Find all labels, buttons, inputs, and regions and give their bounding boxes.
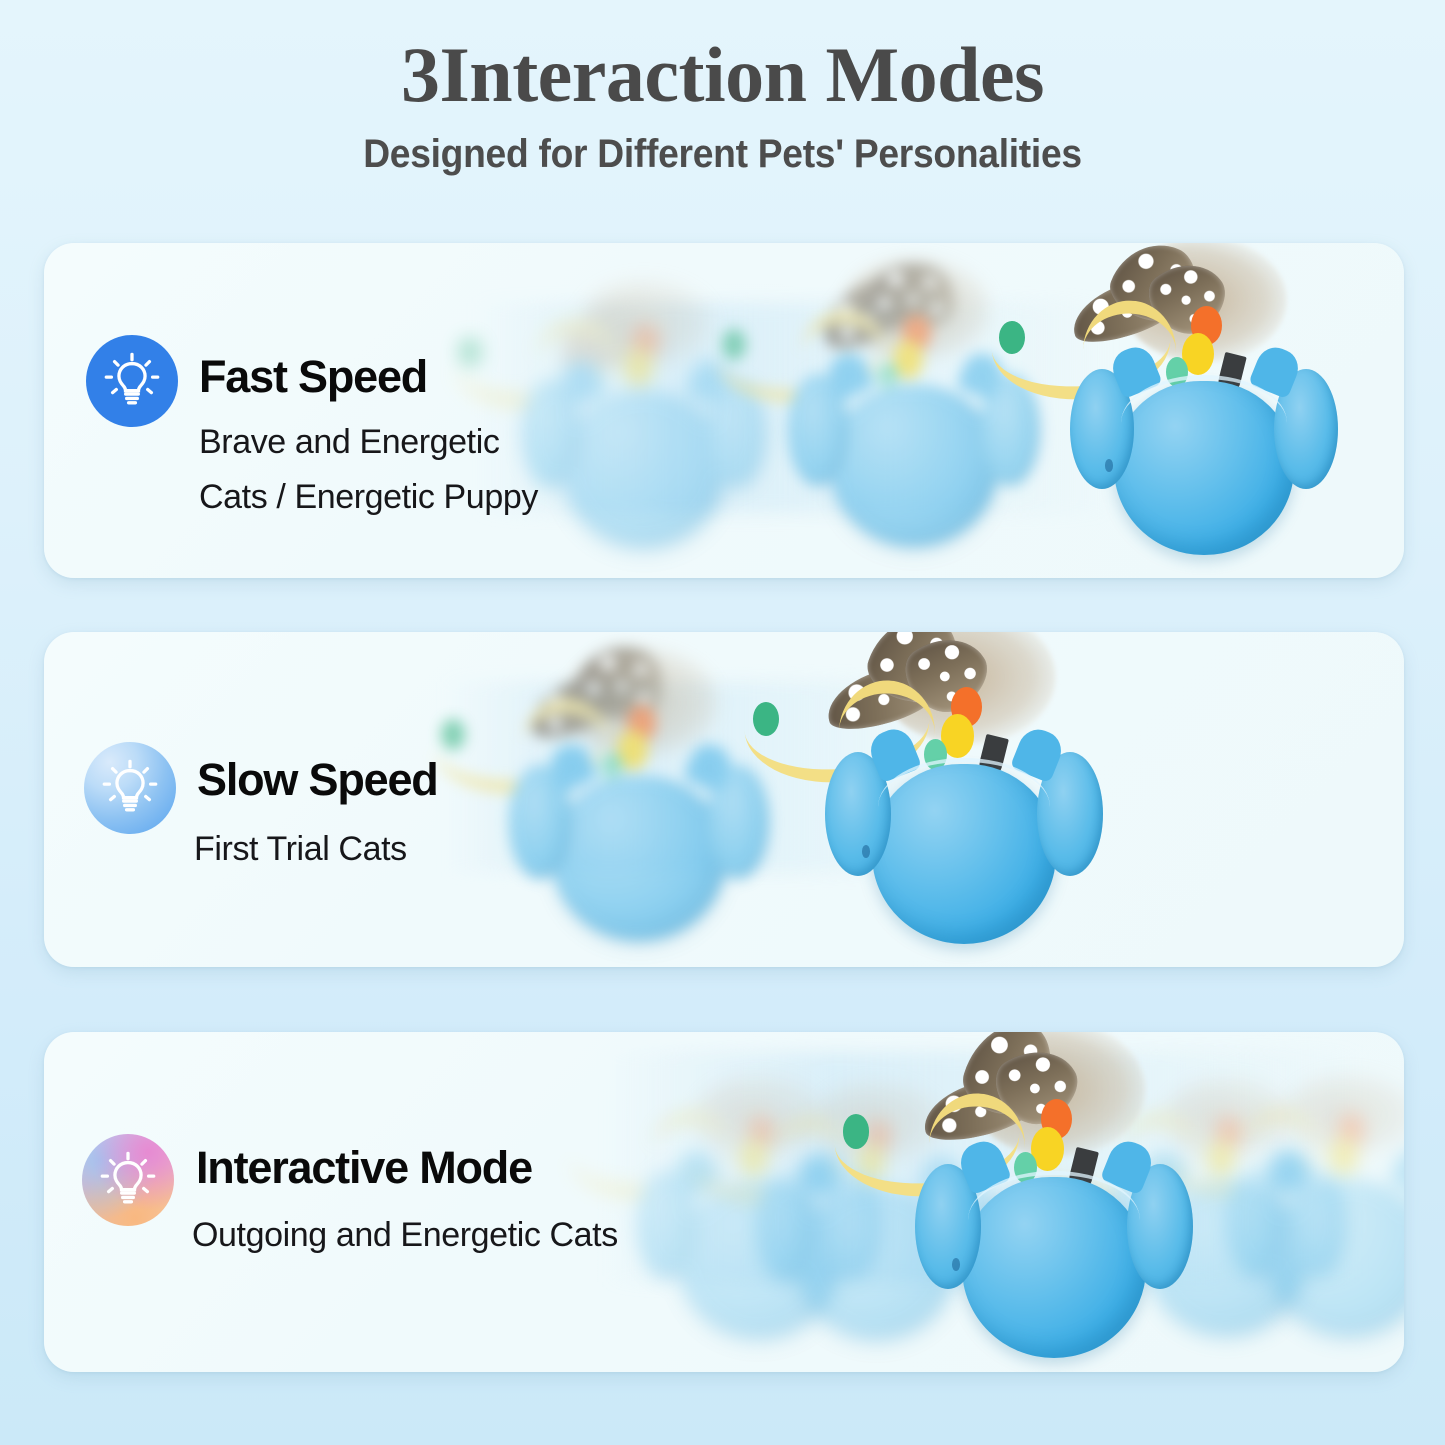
- pompom-green: [843, 1114, 869, 1148]
- pompom-green: [999, 321, 1025, 354]
- lightbulb-icon-interactive-mode: [82, 1134, 174, 1226]
- page-subtitle: Designed for Different Pets' Personaliti…: [51, 132, 1395, 177]
- mode-card-list: Fast Speed Brave and Energetic Cats / En…: [0, 0, 1445, 1445]
- toy-ghost-mid: [484, 662, 794, 947]
- card-title-fast-speed: Fast Speed: [199, 351, 427, 403]
- toy-eye: [862, 845, 871, 858]
- card-title-interactive-mode: Interactive Mode: [196, 1142, 532, 1194]
- lightbulb-icon-fast-speed: [86, 335, 178, 427]
- pompom-green: [753, 702, 779, 736]
- mode-card-fast-speed[interactable]: Fast Speed Brave and Energetic Cats / En…: [44, 243, 1404, 578]
- card-title-slow-speed: Slow Speed: [197, 754, 438, 806]
- page-header: 3Interaction Modes Designed for Differen…: [0, 0, 1445, 177]
- lightbulb-icon: [101, 350, 163, 412]
- lightbulb-icon-slow-speed: [84, 742, 176, 834]
- card-description-interactive-mode: Outgoing and Energetic Cats: [192, 1208, 618, 1263]
- mode-card-slow-speed[interactable]: Slow Speed First Trial Cats: [44, 632, 1404, 967]
- toy-eye: [1105, 459, 1113, 472]
- pompom-yellow: [1329, 1137, 1358, 1175]
- lightbulb-icon: [99, 757, 161, 819]
- toy-ghost-mid: [764, 273, 1064, 553]
- pompom-green: [722, 329, 746, 360]
- toy-primary: [889, 1052, 1219, 1364]
- card-description-slow-speed: First Trial Cats: [194, 822, 407, 877]
- mode-card-interactive-mode[interactable]: Interactive Mode Outgoing and Energetic …: [44, 1032, 1404, 1372]
- lightbulb-icon: [97, 1149, 159, 1211]
- toy-primary: [799, 640, 1129, 950]
- toy-primary: [1044, 261, 1364, 561]
- toy-ghost-far: [1204, 1072, 1404, 1342]
- pompom-yellow: [624, 348, 653, 386]
- page-title: 3Interaction Modes: [0, 34, 1445, 116]
- toy-ghost-far: [499, 283, 789, 553]
- pompom-green: [458, 337, 481, 367]
- card-description-fast-speed: Brave and Energetic Cats / Energetic Pup…: [199, 415, 538, 525]
